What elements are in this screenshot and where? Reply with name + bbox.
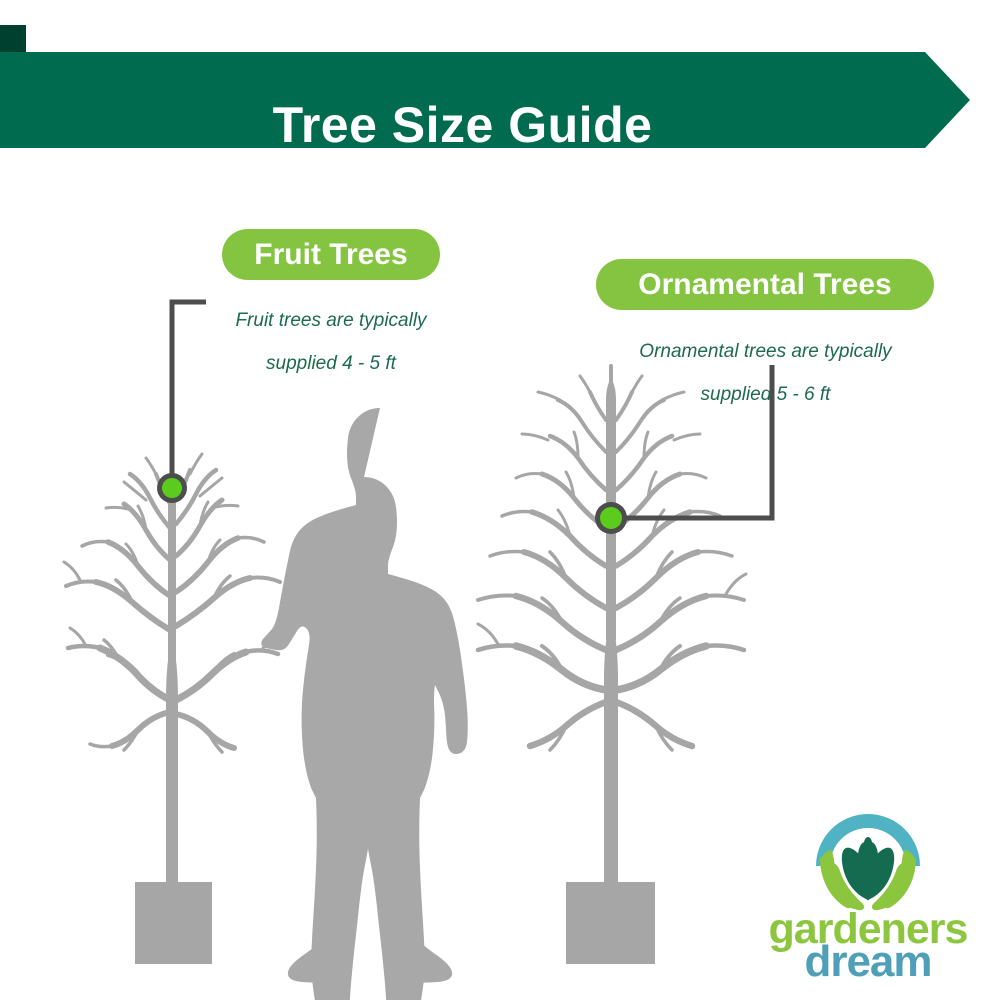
logo-wordmark-dream: dream [748, 940, 988, 984]
marker-dot-fruit [157, 473, 187, 503]
hands-and-plant-logo-mark [810, 806, 926, 911]
connector-line-ornamental [611, 365, 772, 518]
marker-dot-ornamental [595, 502, 627, 534]
gardeners-dream-logo: gardeners dream [748, 806, 988, 981]
tree-size-guide-infographic: Tree Size Guide Fruit Trees Ornamental T… [0, 0, 1000, 1000]
connector-line-fruit [172, 302, 206, 488]
